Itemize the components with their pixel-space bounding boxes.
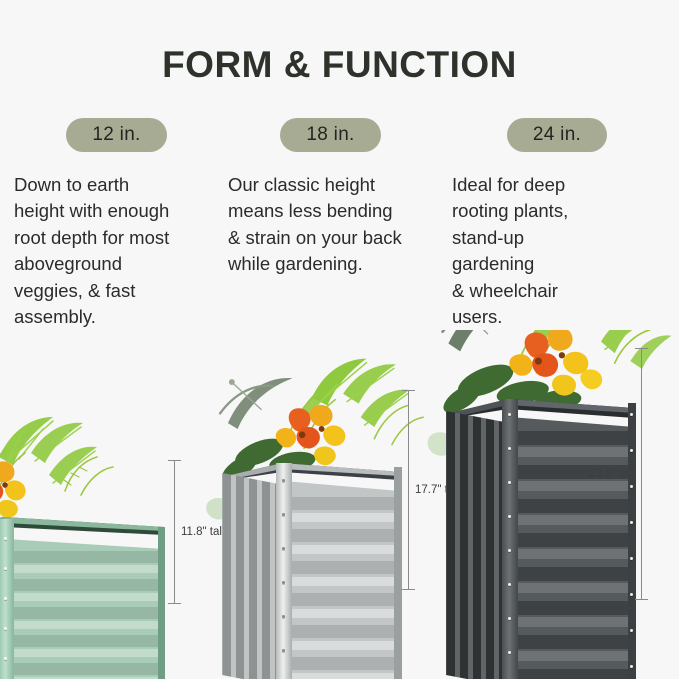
feature-column-12in: 12 in. Down to earth height with enough … bbox=[14, 118, 219, 331]
planter-24in bbox=[446, 330, 636, 679]
planter-far-corner-18in bbox=[394, 467, 402, 679]
planter-end-face-24in bbox=[446, 411, 510, 679]
planter-far-corner-24in bbox=[628, 403, 636, 679]
planter-corner-post-24in bbox=[502, 399, 518, 679]
planter-far-corner-12in bbox=[158, 527, 165, 679]
page-title: FORM & FUNCTION bbox=[0, 44, 679, 86]
planter-18in bbox=[222, 357, 402, 679]
badge-row: 12 in. bbox=[14, 118, 219, 152]
height-badge-18in[interactable]: 18 in. bbox=[280, 118, 380, 152]
planter-corner-post-18in bbox=[276, 463, 292, 679]
planter-end-face-18in bbox=[222, 473, 284, 679]
planter-body-24in bbox=[446, 387, 636, 679]
badge-row: 24 in. bbox=[452, 118, 662, 152]
planter-body-18in bbox=[222, 447, 402, 679]
planter-front-face-18in bbox=[284, 471, 400, 679]
planter-front-face-24in bbox=[510, 407, 634, 679]
infographic-page: FORM & FUNCTION 12 in. Down to earth hei… bbox=[0, 0, 679, 679]
feature-column-24in: 24 in. Ideal for deep rooting plants, st… bbox=[452, 118, 662, 331]
planter-corner-post-12in bbox=[0, 519, 14, 679]
badge-row: 18 in. bbox=[228, 118, 433, 152]
feature-description-12in: Down to earth height with enough root de… bbox=[14, 172, 219, 331]
height-badge-24in[interactable]: 24 in. bbox=[507, 118, 607, 152]
feature-description-24in: Ideal for deep rooting plants, stand-up … bbox=[452, 172, 662, 331]
feature-description-18in: Our classic height means less bending & … bbox=[228, 172, 433, 278]
planter-rim-12in bbox=[0, 515, 164, 535]
planter-front-face-12in bbox=[6, 527, 164, 679]
planter-12in bbox=[0, 397, 168, 679]
planter-body-12in bbox=[0, 507, 168, 679]
feature-column-18in: 18 in. Our classic height means less ben… bbox=[228, 118, 433, 278]
height-badge-12in[interactable]: 12 in. bbox=[66, 118, 166, 152]
planter-rim-18in bbox=[222, 461, 400, 481]
planter-rim-24in bbox=[446, 397, 634, 419]
product-image-stage: 11.8" tall bbox=[0, 330, 679, 679]
dimension-label-24in: 23.6" tall bbox=[589, 468, 633, 480]
